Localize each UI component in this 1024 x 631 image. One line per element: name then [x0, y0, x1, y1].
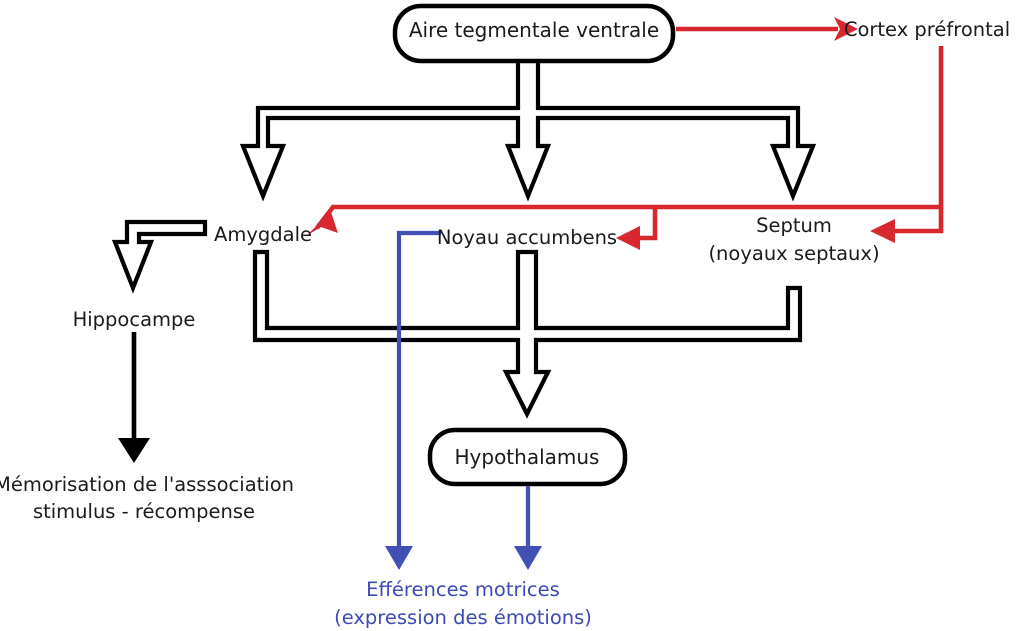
node-hypothalamus: Hypothalamus — [430, 430, 625, 484]
edge-vta-distributor — [243, 60, 813, 196]
node-vta-label: Aire tegmentale ventrale — [409, 18, 659, 42]
node-amygdala-label: Amygdale — [214, 223, 312, 246]
node-motor-efferences-label-line2: (expression des émotions) — [334, 606, 592, 629]
edge-collector-to-hypothalamus — [255, 252, 800, 414]
node-septum: Septum (noyaux septaux) — [708, 214, 879, 265]
node-nucleus-accumbens-label: Noyau accumbens — [437, 226, 617, 249]
edge-hippocampus-to-memorisation — [118, 332, 150, 463]
diagram-canvas: Aire tegmentale ventrale Hypothalamus — [0, 0, 1024, 631]
node-septum-label-line1: Septum — [756, 214, 832, 237]
edge-nucleus-accumbens-to-motor-efferences — [385, 233, 441, 570]
edge-vta-to-prefrontal-cortex — [676, 17, 858, 41]
node-vta: Aire tegmentale ventrale — [395, 6, 673, 61]
edge-prefrontal-cortex-to-amygdala — [306, 46, 941, 236]
node-memorisation: Mémorisation de l'asssociation stimulus … — [0, 473, 294, 523]
node-motor-efferences-label-line1: Efférences motrices — [366, 578, 560, 601]
node-hippocampus-label: Hippocampe — [73, 308, 196, 331]
reward-circuit-diagram: Aire tegmentale ventrale Hypothalamus — [0, 0, 1024, 631]
edge-amygdala-to-hippocampus — [115, 222, 205, 288]
node-hypothalamus-label: Hypothalamus — [455, 445, 600, 469]
node-memorisation-label-line1: Mémorisation de l'asssociation — [0, 473, 294, 496]
edge-hypothalamus-to-motor-efferences — [514, 486, 542, 570]
node-memorisation-label-line2: stimulus - récompense — [33, 500, 255, 523]
edge-prefrontal-cortex-to-septum — [870, 207, 941, 243]
node-septum-label-line2: (noyaux septaux) — [708, 242, 879, 265]
edge-prefrontal-cortex-to-nucleus-accumbens — [616, 207, 655, 250]
node-motor-efferences: Efférences motrices (expression des émot… — [334, 578, 592, 629]
node-prefrontal-cortex-label: Cortex préfrontal — [844, 18, 1010, 41]
